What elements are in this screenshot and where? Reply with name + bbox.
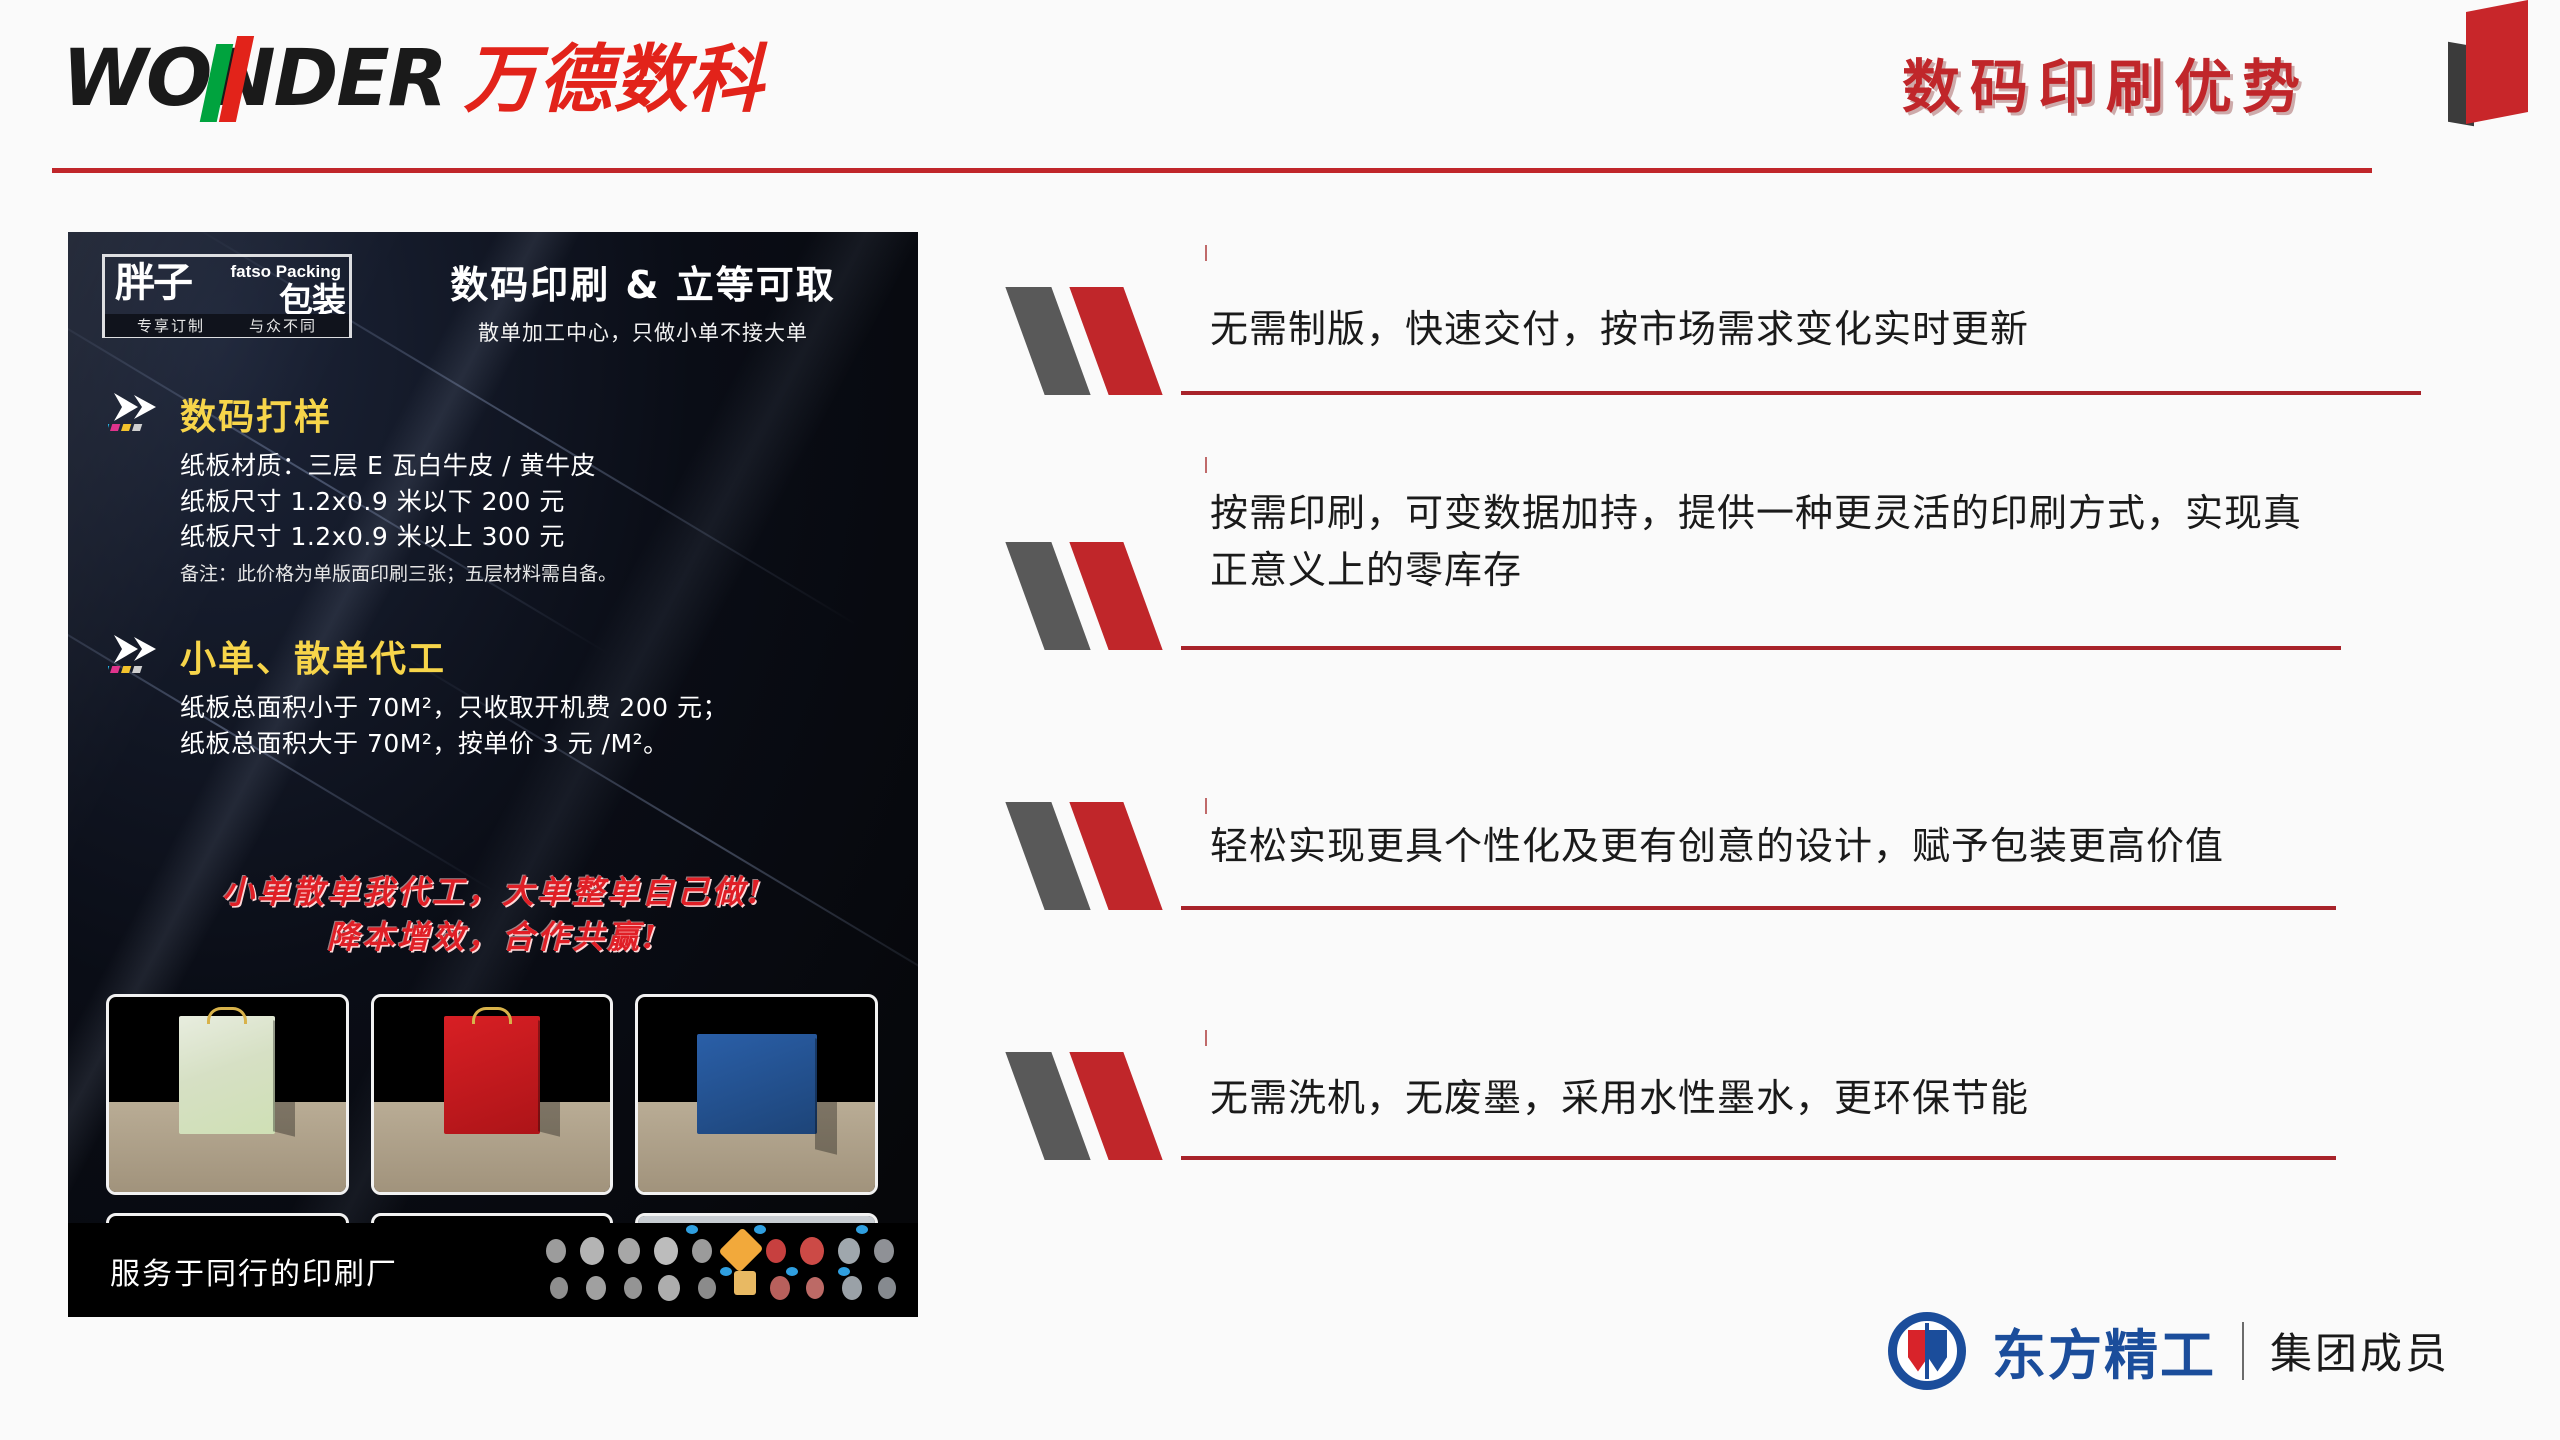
advantage-item[interactable]: 轻松实现更具个性化及更有创意的设计，赋予包装更高价值 (1015, 650, 2465, 910)
promotional-poster-image: 胖子 fatso Packing 包装 专享订制 与众不同 数码印刷 & 立等可… (68, 232, 918, 1317)
slide-root: WONDER 万德数科 数码印刷优势 胖子 fatso Packing 包装 专… (0, 0, 2560, 1440)
advantage-text: 无需洗机，无废墨，采用水性墨水，更环保节能 (1210, 910, 2465, 1133)
poster-subheadline: 散单加工中心，只做小单不接大单 (398, 317, 888, 347)
bullet-double-slash-icon (1015, 800, 1200, 910)
emblem-stem (1925, 1323, 1929, 1379)
section-title: 小单、散单代工 (180, 630, 446, 682)
bullet-tick-mark (1205, 245, 1207, 261)
product-photo (371, 994, 614, 1195)
brand-latin-text: WONDER (62, 34, 446, 124)
tagline-right: 与众不同 (249, 315, 317, 336)
photo-product-box (179, 1016, 275, 1134)
halftone-dot-decoration (538, 1223, 908, 1317)
footer-divider (2242, 1322, 2244, 1380)
advantage-item[interactable]: 无需制版，快速交付，按市场需求变化实时更新 (1015, 255, 2465, 395)
bullet-double-slash-icon (1015, 540, 1200, 650)
advantage-underline (1181, 1156, 2336, 1160)
bullet-tick-mark (1205, 1030, 1207, 1046)
poster-slogan: 小单散单我代工，大单整单自己做! 降本增效，合作共赢! (68, 870, 918, 960)
chevron-arrow-icon (108, 391, 166, 437)
emblem-blue-shield (1928, 1330, 1947, 1372)
fatso-logo-cn2-text: 包装 (279, 284, 345, 318)
header-divider-rule (52, 168, 2372, 173)
slogan-line-2: 降本增效，合作共赢! (68, 915, 918, 960)
section-line: 纸板材质：三层 E 瓦白牛皮 / 黄牛皮 (180, 448, 898, 484)
fatso-logo-en-text: fatso Packing (230, 262, 341, 282)
bullet-double-slash-icon (1015, 285, 1200, 395)
poster-caption: 服务于同行的印刷厂 (110, 1249, 398, 1293)
poster-footer-band: 服务于同行的印刷厂 (68, 1223, 918, 1317)
section-line: 纸板总面积小于 70M²，只收取开机费 200 元； (180, 690, 898, 726)
corner-ribbon-decoration (2430, 0, 2540, 125)
chevron-arrow-icon (108, 633, 166, 679)
product-photo (106, 994, 349, 1195)
company-name: 东方精工 (1992, 1311, 2216, 1390)
dongfang-emblem-icon (1888, 1312, 1966, 1390)
page-title: 数码印刷优势 (1902, 40, 2310, 124)
section-heading-row: 小单、散单代工 (108, 630, 898, 682)
brand-latin-wordmark: WONDER (62, 40, 446, 118)
advantage-text: 轻松实现更具个性化及更有创意的设计，赋予包装更高价值 (1210, 650, 2465, 881)
product-photo (635, 994, 878, 1195)
section-line: 纸板尺寸 1.2x0.9 米以上 300 元 (180, 519, 898, 555)
group-member-label: 集团成员 (2270, 1320, 2450, 1381)
fatso-logo-tagline: 专享订制 与众不同 (105, 314, 349, 337)
slogan-line-1: 小单散单我代工，大单整单自己做! (68, 870, 918, 915)
section-line: 纸板尺寸 1.2x0.9 米以下 200 元 (180, 484, 898, 520)
brand-chinese-wordmark: 万德数科 (464, 43, 764, 117)
bullet-tick-mark (1205, 798, 1207, 814)
advantage-item[interactable]: 按需印刷，可变数据加持，提供一种更灵活的印刷方式，实现真正意义上的零库存 (1015, 395, 2465, 650)
poster-headline-block: 数码印刷 & 立等可取 散单加工中心，只做小单不接大单 (398, 254, 888, 347)
photo-product-box (697, 1034, 817, 1134)
corner-ribbon-red-panel (2466, 0, 2528, 124)
group-member-logo: 东方精工 集团成员 (1888, 1311, 2450, 1390)
section-line: 纸板总面积大于 70M²，按单价 3 元 /M²。 (180, 726, 898, 762)
section-heading-row: 数码打样 (108, 388, 898, 440)
fatso-packing-logo: 胖子 fatso Packing 包装 专享订制 与众不同 (102, 254, 352, 338)
tagline-left: 专享订制 (137, 315, 205, 336)
bullet-tick-mark (1205, 457, 1207, 473)
section-body: 纸板材质：三层 E 瓦白牛皮 / 黄牛皮 纸板尺寸 1.2x0.9 米以下 20… (180, 448, 898, 586)
bullet-double-slash-icon (1015, 1050, 1200, 1160)
photo-product-box (444, 1016, 540, 1134)
section-note: 备注：此价格为单版面印刷三张；五层材料需自备。 (180, 559, 898, 586)
advantages-list: 无需制版，快速交付，按市场需求变化实时更新 按需印刷，可变数据加持，提供一种更灵… (1015, 255, 2465, 1160)
advantage-text: 按需印刷，可变数据加持，提供一种更灵活的印刷方式，实现真正意义上的零库存 (1210, 395, 2340, 605)
poster-section-small-batch-oem: 小单、散单代工 纸板总面积小于 70M²，只收取开机费 200 元； 纸板总面积… (108, 630, 898, 761)
poster-section-digital-proofing: 数码打样 纸板材质：三层 E 瓦白牛皮 / 黄牛皮 纸板尺寸 1.2x0.9 米… (108, 388, 898, 586)
section-title: 数码打样 (180, 388, 332, 440)
poster-headline: 数码印刷 & 立等可取 (398, 254, 888, 309)
advantage-item[interactable]: 无需洗机，无废墨，采用水性墨水，更环保节能 (1015, 910, 2465, 1160)
poster-header-band: 胖子 fatso Packing 包装 专享订制 与众不同 数码印刷 & 立等可… (68, 232, 918, 352)
advantage-text: 无需制版，快速交付，按市场需求变化实时更新 (1210, 255, 2465, 364)
wonder-brand-logo: WONDER 万德数科 (62, 40, 764, 118)
fatso-logo-cn-text: 胖子 (115, 263, 191, 303)
photo-box-handle (207, 1007, 247, 1024)
photo-box-handle (472, 1007, 512, 1024)
section-body: 纸板总面积小于 70M²，只收取开机费 200 元； 纸板总面积大于 70M²，… (180, 690, 898, 761)
